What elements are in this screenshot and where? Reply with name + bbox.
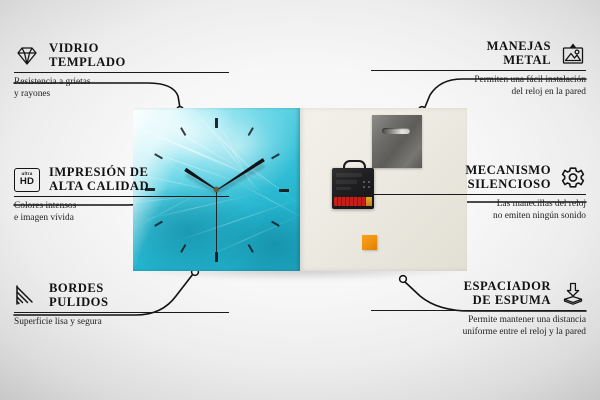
silent-clock-mechanism bbox=[332, 165, 374, 209]
feature-divider bbox=[14, 196, 229, 197]
feature-high-quality-print: ultra HD IMPRESIÓN DE ALTA CALIDAD Color… bbox=[14, 166, 229, 224]
diamond-gem-icon bbox=[14, 43, 40, 69]
mechanism-dots bbox=[363, 181, 371, 188]
mechanism-battery-strip bbox=[334, 197, 367, 206]
mechanism-body bbox=[332, 168, 374, 209]
ultra-hd-badge-icon: ultra HD bbox=[14, 167, 40, 193]
feature-description: Colores intensos e imagen vívida bbox=[14, 201, 229, 224]
feature-divider bbox=[371, 194, 586, 195]
feature-description: Resistencia a grietas y rayones bbox=[14, 77, 229, 100]
feature-divider bbox=[14, 312, 229, 313]
feature-silent-mechanism: MECANISMO SILENCIOSO Las manecillas del … bbox=[371, 164, 586, 222]
feature-description: Permite mantener una distancia uniforme … bbox=[371, 315, 586, 338]
feature-polished-edges: BORDES PULIDOS Superficie lisa y segura bbox=[14, 282, 229, 329]
mechanism-detail bbox=[336, 173, 362, 177]
product-infographic: VIDRIO TEMPLADO Resistencia a grietas y … bbox=[0, 0, 600, 400]
feature-title: ESPACIADOR DE ESPUMA bbox=[464, 280, 551, 307]
feature-tempered-glass: VIDRIO TEMPLADO Resistencia a grietas y … bbox=[14, 42, 229, 100]
feature-foam-spacer: ESPACIADOR DE ESPUMA Permite mantener un… bbox=[371, 280, 586, 338]
feature-divider bbox=[371, 70, 586, 71]
feature-description: Las manecillas del reloj no emiten ningú… bbox=[371, 199, 586, 222]
metal-hanger-plate bbox=[372, 115, 422, 168]
press-down-pad-icon bbox=[560, 281, 586, 307]
hanger-slot bbox=[382, 128, 410, 134]
feature-title: MANEJAS METAL bbox=[487, 40, 551, 67]
foam-spacer-pad bbox=[362, 235, 377, 250]
picture-hanger-icon bbox=[560, 41, 586, 67]
feature-title: IMPRESIÓN DE ALTA CALIDAD bbox=[49, 166, 149, 193]
hd-badge-main-text: HD bbox=[20, 177, 34, 187]
feature-title: BORDES PULIDOS bbox=[49, 282, 108, 309]
feature-description: Superficie lisa y segura bbox=[14, 317, 229, 328]
feature-metal-handles: MANEJAS METAL Permiten una fácil instala… bbox=[371, 40, 586, 98]
feature-title: VIDRIO TEMPLADO bbox=[49, 42, 126, 69]
feature-title: MECANISMO SILENCIOSO bbox=[465, 164, 551, 191]
feature-divider bbox=[371, 310, 586, 311]
mechanism-detail bbox=[336, 187, 351, 190]
mechanism-detail bbox=[336, 180, 357, 184]
gear-icon bbox=[560, 165, 586, 191]
feature-divider bbox=[14, 72, 229, 73]
polished-edges-icon bbox=[14, 283, 40, 309]
feature-description: Permiten una fácil instalación del reloj… bbox=[371, 75, 586, 98]
